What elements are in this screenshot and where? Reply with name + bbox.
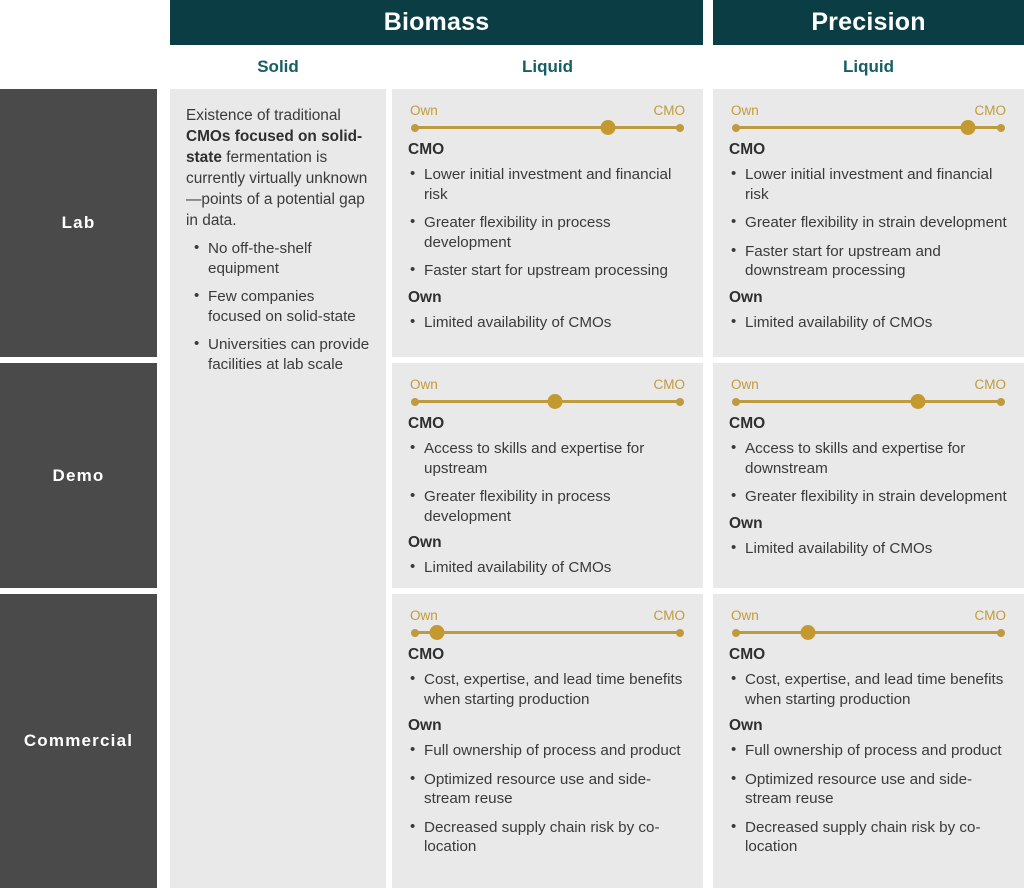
slider-endpoint-cmo: [676, 629, 684, 637]
slider-track: [736, 400, 1001, 403]
slider-knob[interactable]: [911, 394, 926, 409]
heading-own: Own: [729, 515, 1008, 533]
own-bullet-list: Full ownership of process and productOpt…: [408, 741, 687, 857]
slider-endpoint-cmo: [676, 124, 684, 132]
list-item: Full ownership of process and product: [729, 741, 1008, 761]
slider-knob[interactable]: [961, 120, 976, 135]
cell-lab-precision-liquid: Own CMO CMO Lower initial investment and…: [713, 89, 1024, 357]
heading-cmo: CMO: [408, 141, 687, 159]
own-bullet-list: Full ownership of process and productOpt…: [729, 741, 1008, 857]
heading-own: Own: [408, 289, 687, 307]
slider-knob[interactable]: [430, 625, 445, 640]
heading-own: Own: [729, 289, 1008, 307]
subheader-row: Solid Liquid Liquid: [0, 45, 1024, 89]
list-item: Optimized resource use and side-stream r…: [408, 770, 687, 809]
subheader-biomass-liquid: Liquid: [392, 45, 703, 89]
list-item: Limited availability of CMOs: [408, 313, 687, 333]
slider-label-cmo: CMO: [654, 377, 686, 393]
own-bullet-list: Limited availability of CMOs: [408, 313, 687, 333]
cell-commercial-precision-liquid: Own CMO CMO Cost, expertise, and lead ti…: [713, 594, 1024, 888]
slider-label-own: Own: [410, 608, 438, 624]
list-item: Decreased supply chain risk by co-locati…: [408, 818, 687, 857]
subheader-biomass-liquid-label: Liquid: [522, 57, 573, 77]
cell-commercial-biomass-liquid: Own CMO CMO Cost, expertise, and lead ti…: [392, 594, 703, 888]
slider-demo-biomass-liquid[interactable]: Own CMO: [410, 377, 685, 409]
list-item: Greater flexibility in strain developmen…: [729, 213, 1008, 233]
list-item: Lower initial investment and financial r…: [408, 165, 687, 204]
heading-cmo: CMO: [729, 415, 1008, 433]
slider-endpoint-own: [411, 629, 419, 637]
own-bullet-list: Limited availability of CMOs: [729, 539, 1008, 559]
cmo-bullet-list: Access to skills and expertise for downs…: [729, 439, 1008, 507]
group-header-biomass: Biomass: [170, 0, 703, 45]
list-item: Access to skills and expertise for upstr…: [408, 439, 687, 478]
slider-knob[interactable]: [600, 120, 615, 135]
slider-label-own: Own: [731, 608, 759, 624]
list-item: Full ownership of process and product: [408, 741, 687, 761]
cell-solid-all-scales: Existence of traditional CMOs focused on…: [170, 89, 386, 888]
slider-label-cmo: CMO: [975, 103, 1007, 119]
capacity-matrix: Biomass Precision Solid Liquid Liquid La…: [0, 0, 1024, 888]
header-row: Biomass Precision: [0, 0, 1024, 45]
slider-label-cmo: CMO: [654, 103, 686, 119]
list-item: Greater flexibility in process developme…: [408, 213, 687, 252]
list-item: No off-the-shelf equipment: [186, 239, 370, 278]
subheader-precision-liquid-label: Liquid: [843, 57, 894, 77]
slider-label-own: Own: [731, 103, 759, 119]
slider-endpoint-own: [411, 124, 419, 132]
slider-track: [415, 631, 680, 634]
subheader-solid: Solid: [170, 45, 386, 89]
heading-own: Own: [729, 717, 1008, 735]
slider-label-own: Own: [410, 377, 438, 393]
list-item: Faster start for upstream and downstream…: [729, 242, 1008, 281]
slider-label-cmo: CMO: [975, 608, 1007, 624]
own-bullet-list: Limited availability of CMOs: [408, 558, 687, 578]
own-bullet-list: Limited availability of CMOs: [729, 313, 1008, 333]
slider-label-own: Own: [731, 377, 759, 393]
heading-cmo: CMO: [408, 646, 687, 664]
slider-track: [415, 126, 680, 129]
list-item: Limited availability of CMOs: [729, 539, 1008, 559]
row-label-commercial-text: Commercial: [24, 731, 133, 751]
cell-demo-precision-liquid: Own CMO CMO Access to skills and experti…: [713, 363, 1024, 588]
list-item: Greater flexibility in process developme…: [408, 487, 687, 526]
row-label-demo-text: Demo: [52, 466, 104, 486]
list-item: Few companies focused on solid-state: [186, 287, 370, 326]
list-item: Cost, expertise, and lead time benefits …: [729, 670, 1008, 709]
slider-endpoint-own: [732, 629, 740, 637]
slider-endpoint-cmo: [997, 398, 1005, 406]
slider-endpoint-cmo: [997, 629, 1005, 637]
cmo-bullet-list: Cost, expertise, and lead time benefits …: [729, 670, 1008, 709]
group-header-biomass-label: Biomass: [384, 8, 490, 37]
slider-label-own: Own: [410, 103, 438, 119]
list-item: Limited availability of CMOs: [729, 313, 1008, 333]
slider-endpoint-own: [411, 398, 419, 406]
heading-own: Own: [408, 717, 687, 735]
list-item: Greater flexibility in strain developmen…: [729, 487, 1008, 507]
slider-lab-biomass-liquid[interactable]: Own CMO: [410, 103, 685, 135]
slider-knob[interactable]: [801, 625, 816, 640]
slider-label-cmo: CMO: [654, 608, 686, 624]
row-label-lab-text: Lab: [62, 213, 96, 233]
list-item: Limited availability of CMOs: [408, 558, 687, 578]
slider-endpoint-cmo: [997, 124, 1005, 132]
slider-endpoint-own: [732, 398, 740, 406]
cmo-bullet-list: Lower initial investment and financial r…: [729, 165, 1008, 281]
heading-own: Own: [408, 534, 687, 552]
list-item: Cost, expertise, and lead time benefits …: [408, 670, 687, 709]
subheader-precision-liquid: Liquid: [713, 45, 1024, 89]
list-item: Optimized resource use and side-stream r…: [729, 770, 1008, 809]
heading-cmo: CMO: [729, 646, 1008, 664]
subheader-solid-label: Solid: [257, 57, 299, 77]
solid-paragraph: Existence of traditional CMOs focused on…: [186, 105, 370, 231]
list-item: Lower initial investment and financial r…: [729, 165, 1008, 204]
group-header-precision-label: Precision: [811, 8, 925, 37]
cell-lab-biomass-liquid: Own CMO CMO Lower initial investment and…: [392, 89, 703, 357]
slider-endpoint-cmo: [676, 398, 684, 406]
slider-endpoint-own: [732, 124, 740, 132]
slider-commercial-precision-liquid[interactable]: Own CMO: [731, 608, 1006, 640]
cell-demo-biomass-liquid: Own CMO CMO Access to skills and experti…: [392, 363, 703, 588]
list-item: Access to skills and expertise for downs…: [729, 439, 1008, 478]
slider-knob[interactable]: [548, 394, 563, 409]
heading-cmo: CMO: [408, 415, 687, 433]
list-item: Universities can provide facilities at l…: [186, 335, 370, 374]
slider-lab-precision-liquid[interactable]: Own CMO: [731, 103, 1006, 135]
list-item: Faster start for upstream processing: [408, 261, 687, 281]
slider-track: [736, 631, 1001, 634]
slider-demo-precision-liquid[interactable]: Own CMO: [731, 377, 1006, 409]
slider-commercial-biomass-liquid[interactable]: Own CMO: [410, 608, 685, 640]
row-label-commercial: Commercial: [0, 594, 157, 888]
row-label-demo: Demo: [0, 363, 157, 588]
list-item: Decreased supply chain risk by co-locati…: [729, 818, 1008, 857]
solid-bullet-list: No off-the-shelf equipmentFew companies …: [186, 239, 370, 374]
slider-label-cmo: CMO: [975, 377, 1007, 393]
group-header-precision: Precision: [713, 0, 1024, 45]
heading-cmo: CMO: [729, 141, 1008, 159]
cmo-bullet-list: Lower initial investment and financial r…: [408, 165, 687, 281]
row-label-lab: Lab: [0, 89, 157, 357]
cmo-bullet-list: Access to skills and expertise for upstr…: [408, 439, 687, 526]
cmo-bullet-list: Cost, expertise, and lead time benefits …: [408, 670, 687, 709]
